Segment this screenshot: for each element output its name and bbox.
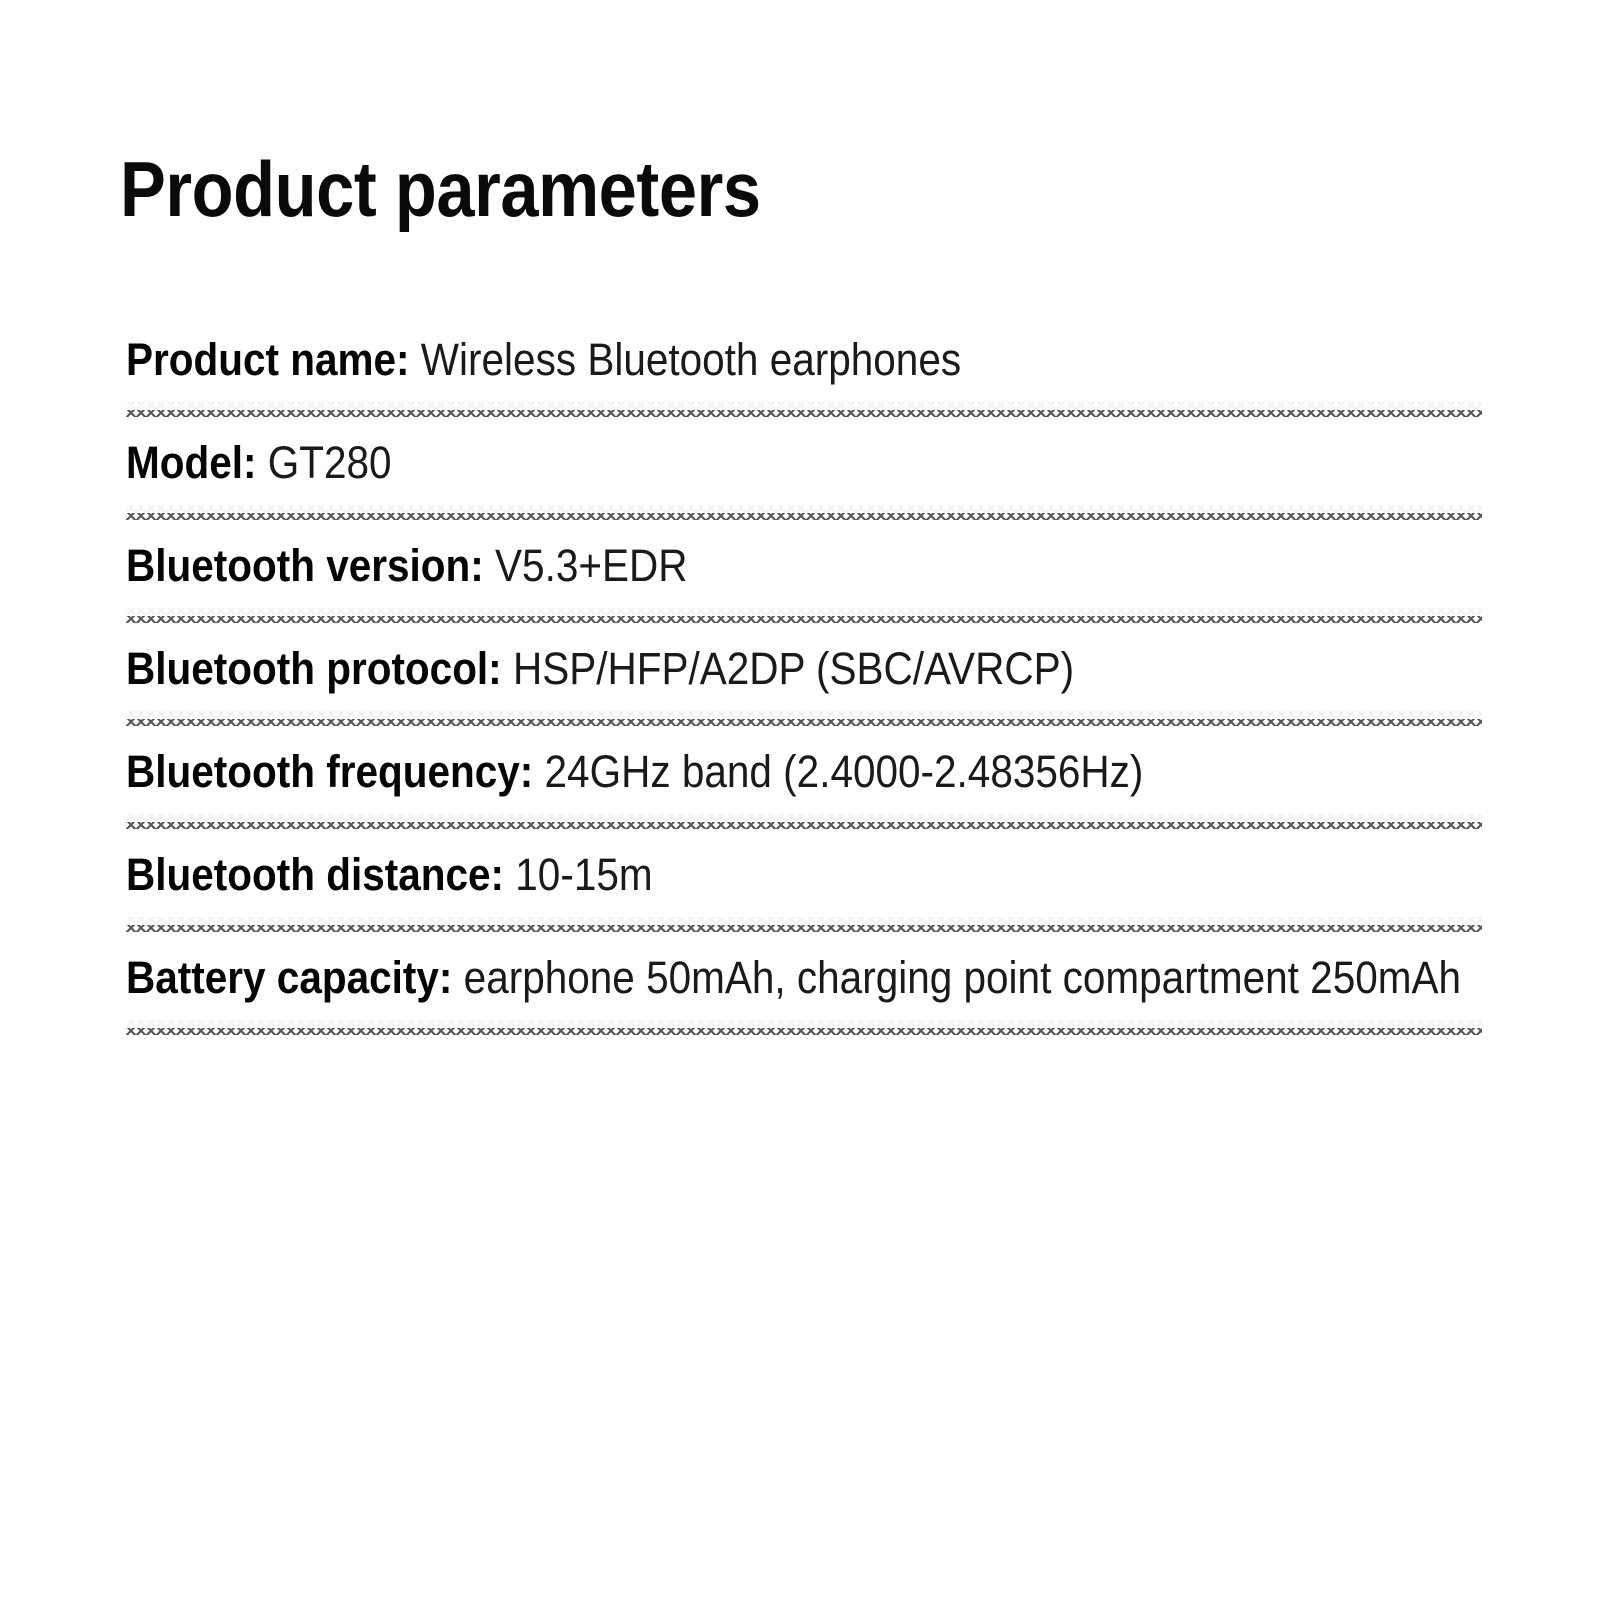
row-divider — [126, 614, 1482, 624]
spec-list: Product name: Wireless Bluetooth earphon… — [0, 315, 1600, 1036]
spec-value-model: GT280 — [268, 437, 392, 488]
spec-row-product-name: Product name: Wireless Bluetooth earphon… — [0, 315, 1600, 408]
spec-text: Bluetooth distance: 10-15m — [126, 844, 1482, 905]
spec-value-bluetooth-version: V5.3+EDR — [495, 540, 687, 591]
spec-text: Product name: Wireless Bluetooth earphon… — [126, 329, 1482, 390]
spec-row-body: Battery capacity: earphone 50mAh, chargi… — [126, 933, 1482, 1026]
spec-row-bluetooth-version: Bluetooth version: V5.3+EDR — [0, 521, 1600, 614]
spec-label-bluetooth-protocol: Bluetooth protocol: — [126, 643, 502, 694]
row-divider — [126, 923, 1482, 933]
row-divider — [126, 820, 1482, 830]
spec-value-bluetooth-distance: 10-15m — [515, 849, 652, 900]
spec-row-bluetooth-distance: Bluetooth distance: 10-15m — [0, 830, 1600, 923]
spec-value-battery-capacity: earphone 50mAh, charging point compartme… — [464, 952, 1461, 1003]
product-parameters-page: Product parameters Product name: Wireles… — [0, 0, 1600, 1600]
spec-row-body: Bluetooth distance: 10-15m — [126, 830, 1482, 923]
spec-value-bluetooth-protocol: HSP/HFP/A2DP (SBC/AVRCP) — [513, 643, 1074, 694]
spec-text: Bluetooth version: V5.3+EDR — [126, 535, 1482, 596]
spec-label-bluetooth-frequency: Bluetooth frequency: — [126, 746, 533, 797]
row-divider — [126, 1026, 1482, 1036]
spec-label-bluetooth-distance: Bluetooth distance: — [126, 849, 504, 900]
row-divider — [126, 717, 1482, 727]
spec-label-bluetooth-version: Bluetooth version: — [126, 540, 484, 591]
spec-row-model: Model: GT280 — [0, 418, 1600, 511]
spec-text: Bluetooth frequency: 24GHz band (2.4000-… — [126, 741, 1482, 802]
spec-label-model: Model: — [126, 437, 256, 488]
spec-row-body: Bluetooth version: V5.3+EDR — [126, 521, 1482, 614]
spec-row-body: Bluetooth frequency: 24GHz band (2.4000-… — [126, 727, 1482, 820]
spec-text: Bluetooth protocol: HSP/HFP/A2DP (SBC/AV… — [126, 638, 1482, 699]
spec-row-battery-capacity: Battery capacity: earphone 50mAh, chargi… — [0, 933, 1600, 1026]
spec-text: Battery capacity: earphone 50mAh, chargi… — [126, 947, 1482, 1008]
page-title: Product parameters — [120, 150, 761, 228]
spec-label-product-name: Product name: — [126, 334, 410, 385]
spec-row-bluetooth-frequency: Bluetooth frequency: 24GHz band (2.4000-… — [0, 727, 1600, 820]
spec-row-body: Model: GT280 — [126, 418, 1482, 511]
row-divider — [126, 408, 1482, 418]
spec-row-body: Bluetooth protocol: HSP/HFP/A2DP (SBC/AV… — [126, 624, 1482, 717]
spec-label-battery-capacity: Battery capacity: — [126, 952, 452, 1003]
spec-row-bluetooth-protocol: Bluetooth protocol: HSP/HFP/A2DP (SBC/AV… — [0, 624, 1600, 717]
spec-text: Model: GT280 — [126, 432, 1482, 493]
spec-row-body: Product name: Wireless Bluetooth earphon… — [126, 315, 1482, 408]
spec-value-product-name: Wireless Bluetooth earphones — [421, 334, 961, 385]
spec-value-bluetooth-frequency: 24GHz band (2.4000-2.48356Hz) — [545, 746, 1144, 797]
row-divider — [126, 511, 1482, 521]
